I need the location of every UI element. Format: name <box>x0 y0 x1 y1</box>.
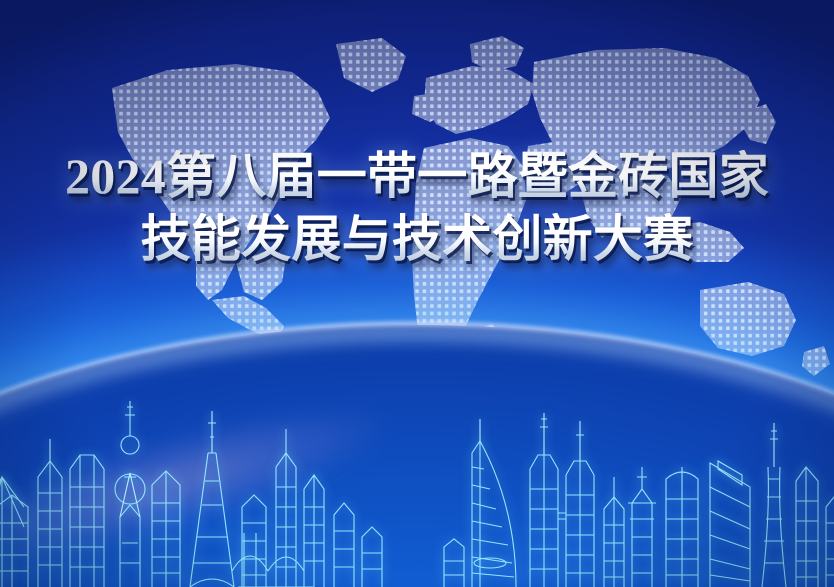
globe-rim-tint <box>0 342 435 587</box>
corner-vignette <box>0 0 834 587</box>
globe-body <box>0 325 834 587</box>
globe-rim-line <box>0 322 834 587</box>
city-skyline-right <box>410 357 834 587</box>
poster-title: 2024第八届一带一路暨金砖国家 技能发展与技术创新大赛 <box>0 150 834 266</box>
title-line-2: 技能发展与技术创新大赛 <box>0 213 834 266</box>
city-skyline-left <box>0 357 424 587</box>
horizon-glow <box>0 300 834 587</box>
world-map-dots <box>0 0 834 587</box>
globe-halo <box>0 330 834 587</box>
title-line-1: 2024第八届一带一路暨金砖国家 <box>0 150 834 203</box>
poster-canvas: 2024第八届一带一路暨金砖国家 技能发展与技术创新大赛 <box>0 0 834 587</box>
